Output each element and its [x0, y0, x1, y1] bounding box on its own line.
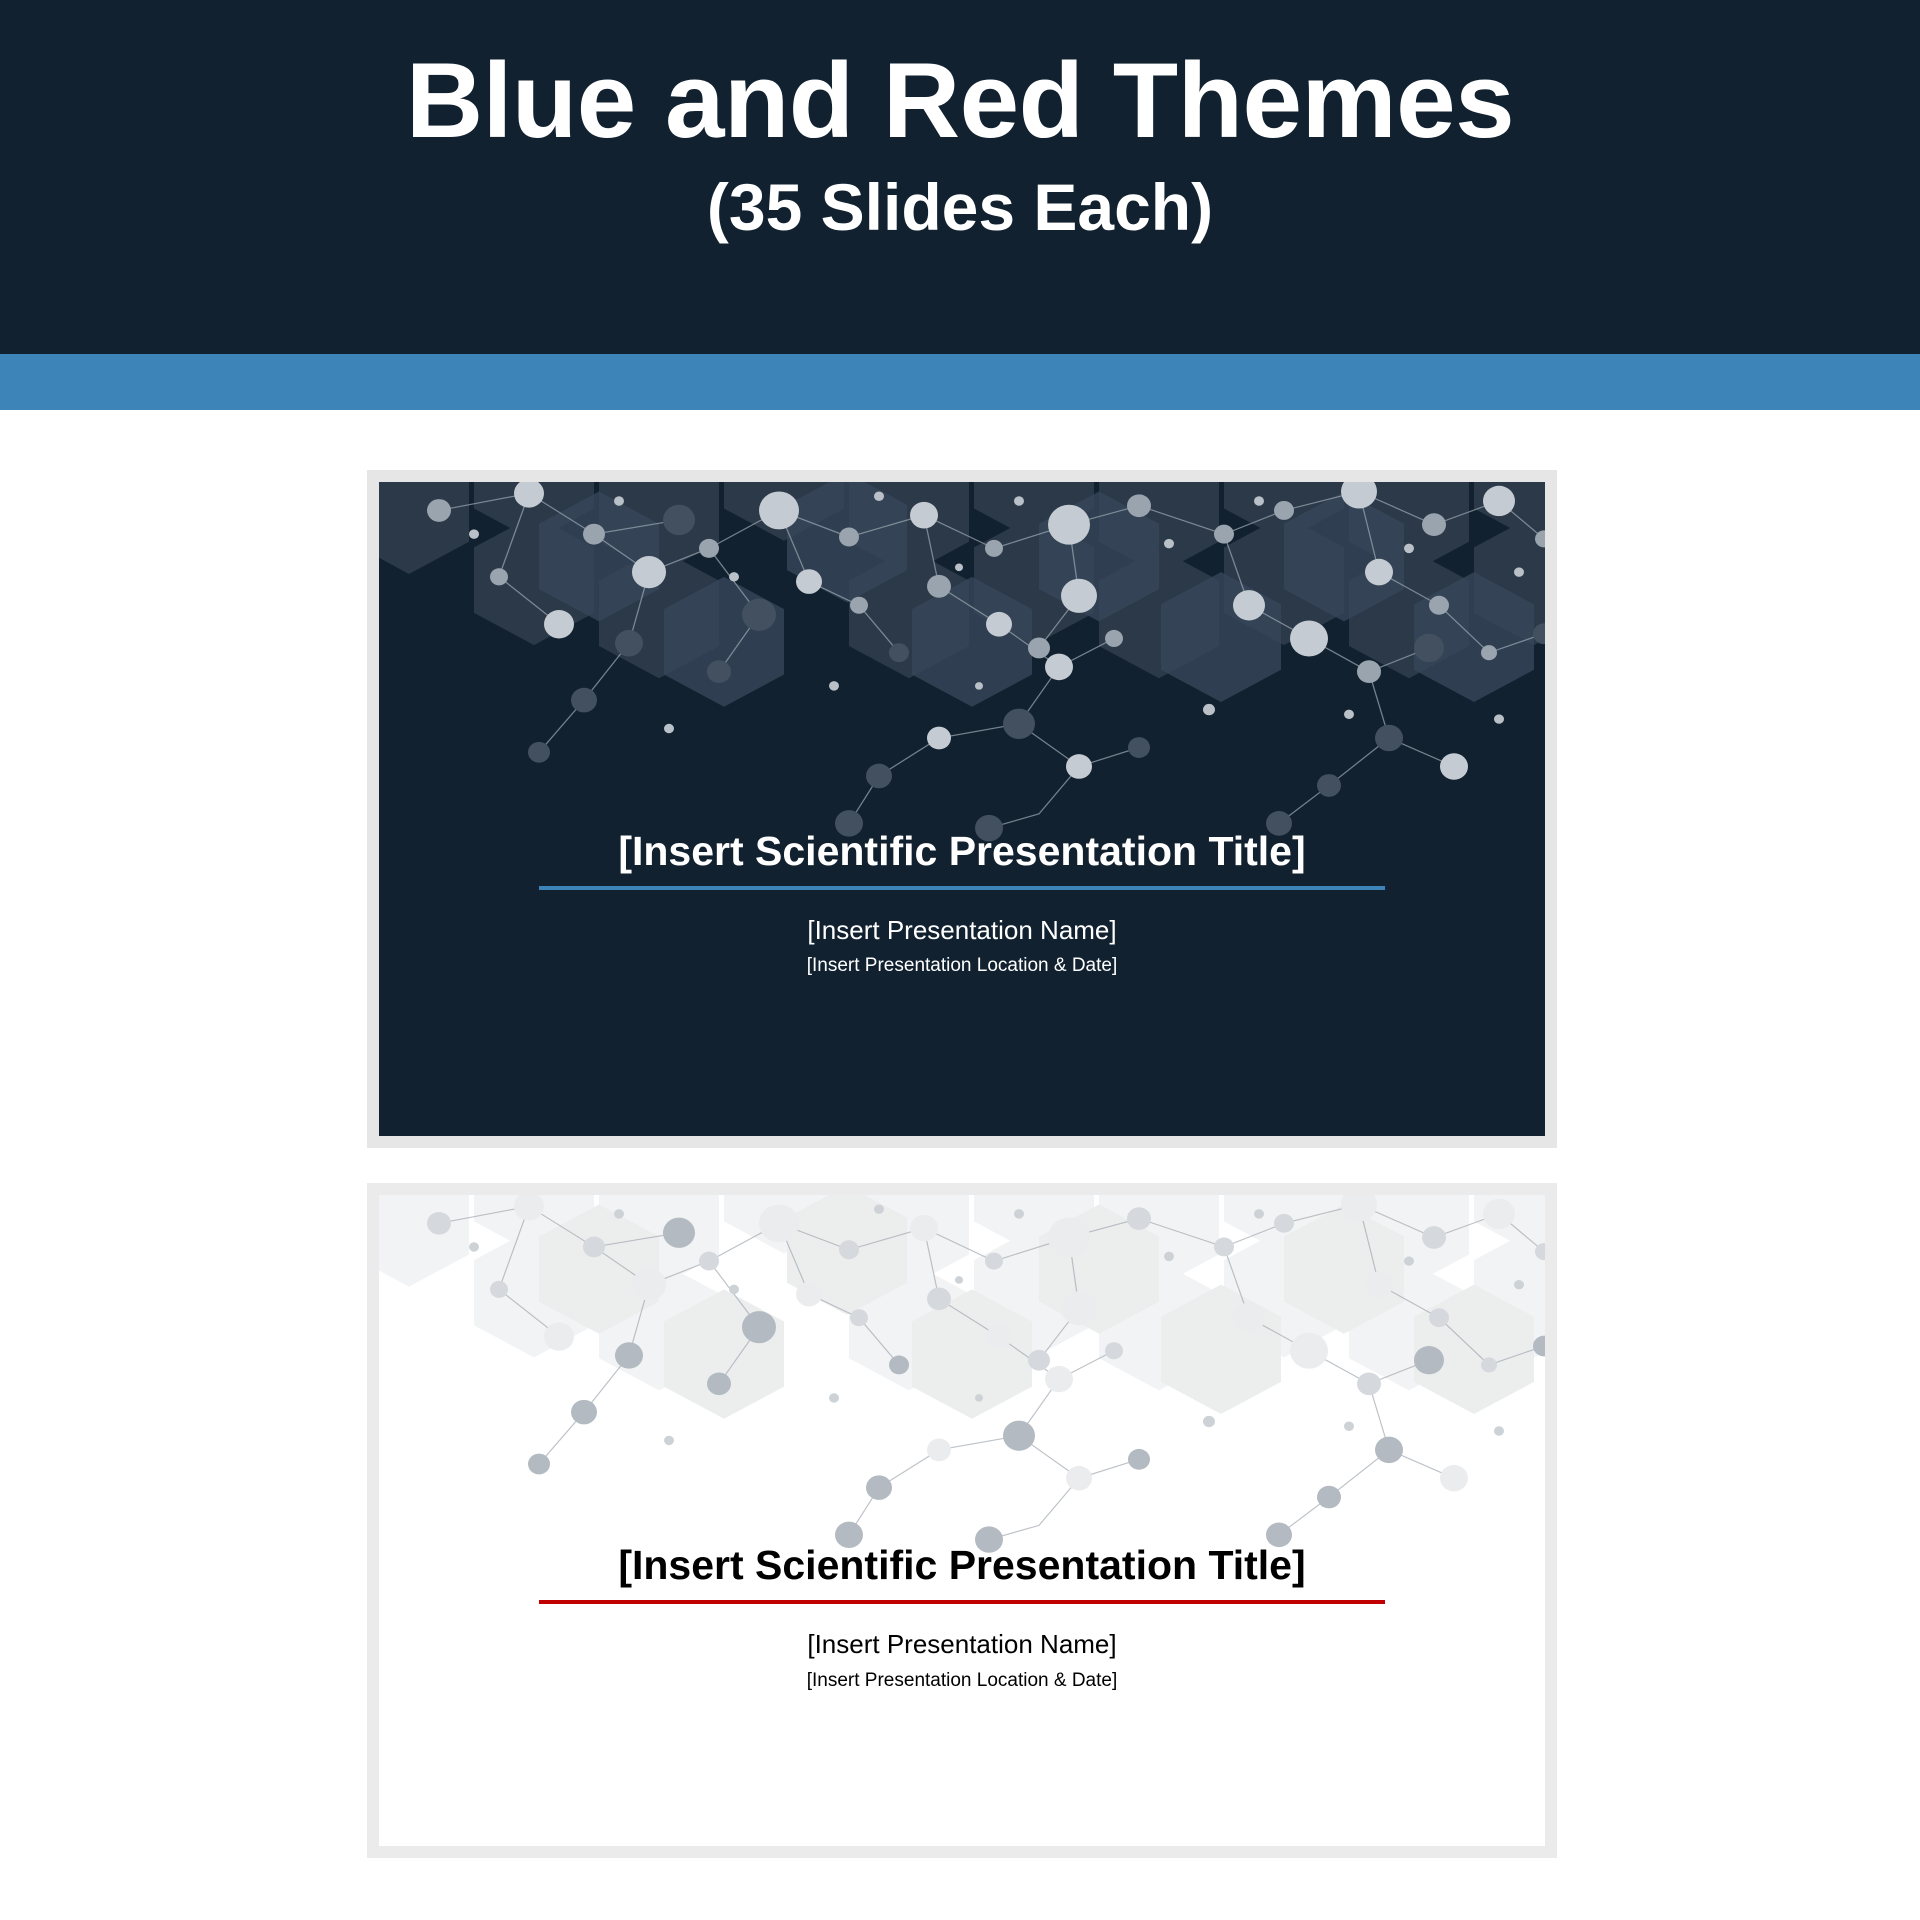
title-underline-red [539, 1600, 1385, 1604]
header-banner: Blue and Red Themes (35 Slides Each) [0, 0, 1920, 354]
accent-strip [0, 354, 1920, 410]
slide-preview-frame-red[interactable]: [Insert Scientific Presentation Title] [… [367, 1183, 1557, 1858]
slide-text-block-red: [Insert Scientific Presentation Title] [… [379, 1543, 1545, 1692]
slide-location-blue: [Insert Presentation Location & Date] [379, 955, 1545, 978]
slide-blue-theme[interactable]: [Insert Scientific Presentation Title] [… [379, 482, 1545, 1136]
slide-presenter-blue: [Insert Presentation Name] [379, 915, 1545, 946]
molecular-hexagon-pattern-icon [379, 1195, 1545, 1573]
slide-preview-frame-blue[interactable]: [Insert Scientific Presentation Title] [… [367, 470, 1557, 1148]
slide-red-theme[interactable]: [Insert Scientific Presentation Title] [… [379, 1195, 1545, 1846]
molecular-hexagon-pattern-icon [379, 482, 1545, 861]
slide-text-block-blue: [Insert Scientific Presentation Title] [… [379, 829, 1545, 978]
slide-location-red: [Insert Presentation Location & Date] [379, 1670, 1545, 1693]
title-underline-blue [539, 886, 1385, 890]
slide-title-blue: [Insert Scientific Presentation Title] [379, 829, 1545, 874]
slide-presenter-red: [Insert Presentation Name] [379, 1629, 1545, 1660]
page-subtitle: (35 Slides Each) [707, 173, 1213, 242]
slide-title-red: [Insert Scientific Presentation Title] [379, 1543, 1545, 1588]
page-title: Blue and Red Themes [406, 46, 1514, 155]
poster-page: Blue and Red Themes (35 Slides Each) [0, 0, 1920, 1920]
